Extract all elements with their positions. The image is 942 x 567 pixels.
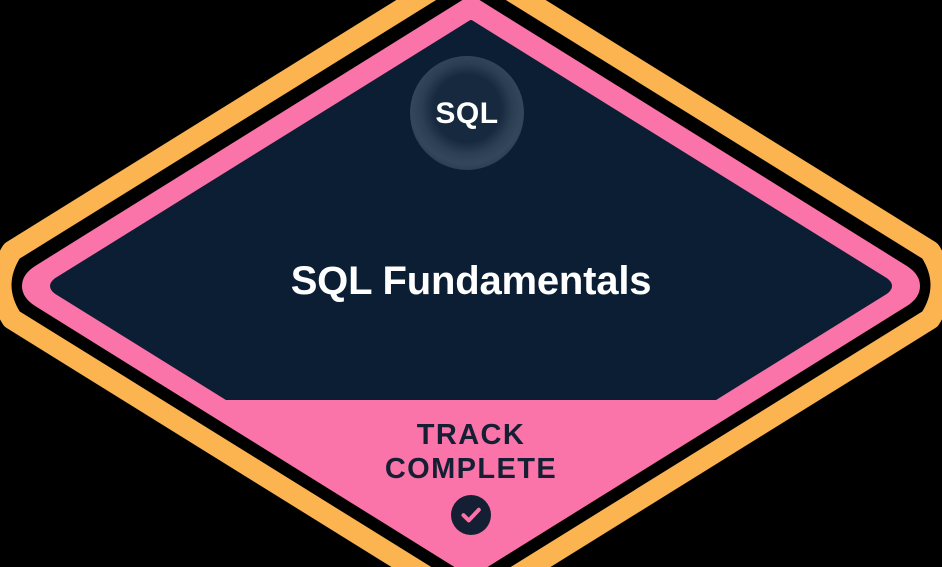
check-circle-icon — [451, 495, 491, 535]
track-badge: SQL SQL Fundamentals TRACK COMPLETE — [0, 0, 942, 567]
status-line-complete: COMPLETE — [0, 452, 942, 486]
track-status: TRACK COMPLETE — [0, 418, 942, 535]
track-chip-label: SQL — [435, 99, 498, 129]
status-line-track: TRACK — [0, 418, 942, 452]
track-title: SQL Fundamentals — [0, 259, 942, 303]
track-chip: SQL — [410, 56, 524, 170]
